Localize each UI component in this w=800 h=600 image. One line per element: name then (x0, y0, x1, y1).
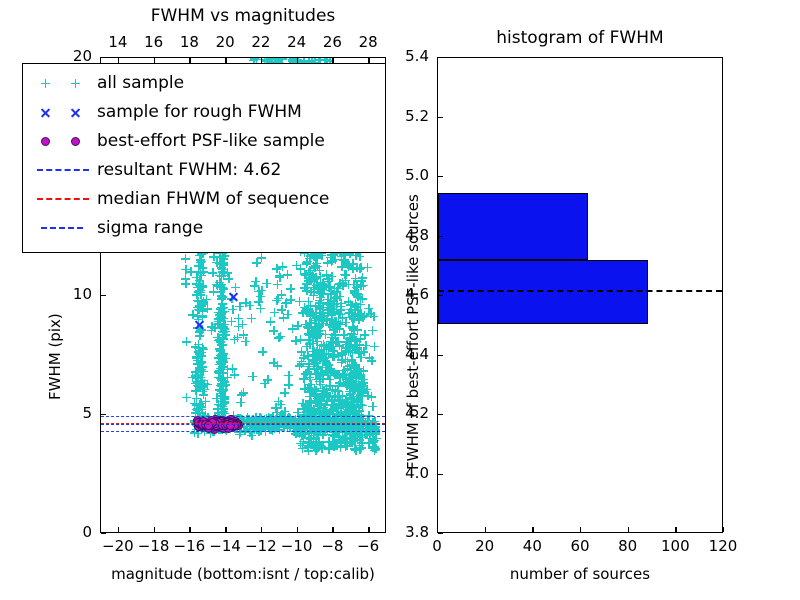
scatter-point-all (303, 351, 312, 360)
scatter-point-all (315, 309, 324, 318)
scatter-point-all (316, 380, 325, 389)
scatter-point-all (346, 300, 355, 309)
scatter-point-all (354, 348, 363, 357)
scatter-point-all (337, 262, 346, 271)
scatter-point-all (339, 330, 348, 339)
scatter-point-all (352, 283, 361, 292)
scatter-point-all (355, 425, 364, 434)
scatter-point-all (320, 353, 329, 362)
scatter-point-all (194, 370, 203, 379)
scatter-point-all (323, 300, 332, 309)
scatter-point-all (326, 337, 335, 346)
scatter-point-all (199, 299, 208, 308)
scatter-point-all (336, 302, 345, 311)
scatter-point-all (348, 376, 357, 385)
scatter-point-all (342, 411, 351, 420)
scatter-point-all (349, 428, 358, 437)
scatter-point-all (317, 341, 326, 350)
scatter-xtick (368, 527, 369, 532)
scatter-point-all (217, 280, 226, 289)
scatter-point-all (192, 354, 201, 363)
scatter-point-all (337, 350, 346, 359)
scatter-point-all (348, 403, 357, 412)
scatter-point-all (308, 339, 317, 348)
scatter-point-all (348, 333, 357, 342)
scatter-point-all (355, 381, 364, 390)
scatter-point-all (319, 317, 328, 326)
scatter-xticklabel: −14 (209, 537, 241, 555)
scatter-point-all (312, 252, 321, 261)
scatter-point-all (358, 421, 367, 430)
scatter-point-all (181, 274, 190, 283)
scatter-point-all (324, 437, 333, 446)
scatter-point-all (307, 404, 316, 413)
scatter-point-all (292, 261, 301, 270)
scatter-point-all (314, 439, 323, 448)
scatter-point-all (195, 382, 204, 391)
scatter-point-all (312, 431, 321, 440)
scatter-point-all (309, 347, 318, 356)
scatter-x-axis-label: magnitude (bottom:isnt / top:calib) (100, 565, 386, 583)
scatter-point-all (284, 371, 293, 380)
scatter-point-all (223, 365, 232, 374)
histogram-xticklabel: 80 (618, 537, 637, 555)
scatter-point-all (328, 437, 337, 446)
scatter-yticklabel: 5 (82, 404, 92, 422)
scatter-point-all (215, 366, 224, 375)
scatter-point-all (192, 400, 201, 409)
legend-marker-glyph (41, 137, 50, 146)
scatter-point-all (193, 359, 202, 368)
scatter-point-all (219, 322, 228, 331)
scatter-point-all (233, 333, 242, 342)
scatter-point-all (345, 340, 354, 349)
scatter-point-all (369, 436, 378, 445)
scatter-point-all (202, 295, 211, 304)
histogram-ytick (438, 533, 443, 534)
scatter-point-all (305, 335, 314, 344)
scatter-point-all (341, 270, 350, 279)
scatter-point-all (370, 436, 379, 445)
scatter-point-all (348, 384, 357, 393)
histogram-yticklabel: 5.0 (405, 166, 429, 184)
scatter-point-all (193, 381, 202, 390)
scatter-point-all (306, 435, 315, 444)
scatter-point-all (257, 253, 266, 262)
scatter-point-all (309, 434, 318, 443)
scatter-point-all (318, 363, 327, 372)
scatter-point-all (309, 425, 318, 434)
scatter-point-all (216, 317, 225, 326)
scatter-point-all (363, 391, 372, 400)
scatter-point-all (352, 400, 361, 409)
scatter-point-all (349, 368, 358, 377)
scatter-point-all (194, 374, 203, 383)
scatter-point-all (298, 399, 307, 408)
scatter-point-all (359, 381, 368, 390)
scatter-point-all (345, 406, 354, 415)
scatter-point-all (329, 325, 338, 334)
scatter-point-all (350, 286, 359, 295)
scatter-point-all (357, 281, 366, 290)
scatter-point-all (322, 391, 331, 400)
scatter-point-all (334, 309, 343, 318)
scatter-point-all (330, 370, 339, 379)
scatter-point-all (348, 410, 357, 419)
scatter-point-all (353, 364, 362, 373)
scatter-point-all (338, 372, 347, 381)
scatter-point-all (307, 274, 316, 283)
scatter-point-all (271, 403, 280, 412)
scatter-point-all (367, 356, 376, 365)
legend-marker-glyph (41, 79, 50, 88)
scatter-point-all (329, 346, 338, 355)
scatter-point-all (215, 259, 224, 268)
scatter-point-all (192, 394, 201, 403)
scatter-point-all (241, 298, 250, 307)
scatter-point-all (328, 302, 337, 311)
scatter-point-all (371, 444, 380, 453)
scatter-legend: all samplesample for rough FWHMbest-effo… (22, 63, 386, 253)
scatter-point-all (326, 304, 335, 313)
scatter-point-all (296, 439, 305, 448)
scatter-point-all (218, 308, 227, 317)
scatter-point-all (315, 288, 324, 297)
scatter-point-all (214, 400, 223, 409)
scatter-point-all (310, 285, 319, 294)
histogram-xtick (628, 527, 629, 532)
scatter-point-all (219, 323, 228, 332)
scatter-point-all (316, 380, 325, 389)
scatter-point-all (328, 400, 337, 409)
scatter-point-all (316, 326, 325, 335)
scatter-point-all (329, 296, 338, 305)
histogram-bar[interactable] (438, 193, 588, 260)
scatter-point-all (331, 428, 340, 437)
scatter-point-all (325, 421, 334, 430)
scatter-point-all (346, 348, 355, 357)
scatter-point-all (352, 396, 361, 405)
scatter-xtick (297, 527, 298, 532)
scatter-point-all (329, 442, 338, 451)
scatter-point-all (315, 374, 324, 383)
scatter-point-all (302, 320, 311, 329)
scatter-point-all (346, 398, 355, 407)
scatter-point-all (353, 344, 362, 353)
scatter-point-all (348, 323, 357, 332)
scatter-point-all (193, 406, 202, 415)
scatter-point-all (326, 253, 335, 262)
scatter-point-all (334, 352, 343, 361)
scatter-point-all (354, 315, 363, 324)
histogram-bar[interactable] (438, 260, 648, 324)
scatter-point-all (212, 394, 221, 403)
scatter-point-all (216, 381, 225, 390)
scatter-point-all (349, 314, 358, 323)
scatter-point-all (322, 341, 331, 350)
scatter-point-all (334, 319, 343, 328)
scatter-point-all (336, 310, 345, 319)
scatter-point-all (368, 443, 377, 452)
scatter-point-all (199, 367, 208, 376)
scatter-point-all (269, 358, 278, 367)
scatter-point-all (355, 371, 364, 380)
scatter-point-all (214, 373, 223, 382)
scatter-point-all (302, 400, 311, 409)
scatter-point-all (197, 380, 206, 389)
scatter-point-all (313, 354, 322, 363)
scatter-point-all (350, 306, 359, 315)
scatter-point-all (348, 322, 357, 331)
scatter-point-all (302, 407, 311, 416)
scatter-point-all (195, 346, 204, 355)
scatter-point-all (344, 297, 353, 306)
scatter-point-all (344, 417, 353, 426)
scatter-point-all (193, 296, 202, 305)
scatter-point-all (308, 310, 317, 319)
scatter-point-all (214, 404, 223, 413)
scatter-point-all (353, 305, 362, 314)
scatter-reference-line (101, 431, 385, 432)
scatter-point-all (258, 347, 267, 356)
scatter-point-all (215, 310, 224, 319)
scatter-point-all (196, 258, 205, 267)
scatter-point-all (310, 364, 319, 373)
scatter-point-all (299, 374, 308, 383)
scatter-point-all (268, 417, 277, 426)
scatter-point-all (318, 284, 327, 293)
scatter-point-all (219, 268, 228, 277)
scatter-point-all (309, 359, 318, 368)
legend-line-glyph (37, 169, 89, 171)
scatter-point-all (351, 299, 360, 308)
scatter-point-all (181, 254, 190, 263)
scatter-point-all (274, 333, 283, 342)
scatter-point-all (353, 325, 362, 334)
scatter-point-all (346, 428, 355, 437)
scatter-point-all (223, 373, 232, 382)
scatter-point-all (351, 367, 360, 376)
histogram-plot-area[interactable] (437, 57, 723, 533)
scatter-point-all (337, 399, 346, 408)
scatter-xtick (189, 527, 190, 532)
scatter-point-all (221, 330, 230, 339)
scatter-point-all (370, 442, 379, 451)
legend-marker-glyph (71, 79, 80, 88)
scatter-point-all (306, 438, 315, 447)
scatter-point-all (308, 339, 317, 348)
scatter-point-all (194, 372, 203, 381)
scatter-point-all (327, 395, 336, 404)
scatter-point-all (368, 428, 377, 437)
scatter-point-all (330, 431, 339, 440)
legend-line-glyph (37, 198, 89, 200)
scatter-point-all (311, 437, 320, 446)
scatter-point-all (331, 255, 340, 264)
scatter-point-all (192, 290, 201, 299)
scatter-point-all (196, 288, 205, 297)
scatter-point-all (334, 402, 343, 411)
scatter-point-all (340, 428, 349, 437)
scatter-point-all (217, 303, 226, 312)
legend-item: sample for rough FWHM (29, 97, 379, 126)
scatter-point-all (347, 313, 356, 322)
scatter-point-all (329, 368, 338, 377)
scatter-point-all (344, 259, 353, 268)
scatter-point-all (196, 281, 205, 290)
scatter-point-all (315, 377, 324, 386)
scatter-point-all (346, 401, 355, 410)
scatter-point-all (353, 410, 362, 419)
scatter-point-all (220, 377, 229, 386)
scatter-point-all (301, 401, 310, 410)
scatter-point-all (214, 336, 223, 345)
scatter-point-all (330, 299, 339, 308)
scatter-point-all (357, 438, 366, 447)
scatter-point-all (348, 346, 357, 355)
scatter-point-all (360, 330, 369, 339)
scatter-point-all (310, 389, 319, 398)
scatter-point-all (188, 373, 197, 382)
scatter-point-all (234, 314, 243, 323)
scatter-point-all (239, 330, 248, 339)
scatter-point-all (311, 397, 320, 406)
scatter-point-all (254, 425, 263, 434)
scatter-point-all (341, 442, 350, 451)
scatter-point-all (329, 440, 338, 449)
scatter-point-all (328, 352, 337, 361)
scatter-point-all (192, 374, 201, 383)
scatter-point-all (350, 288, 359, 297)
scatter-point-all (368, 326, 377, 335)
scatter-point-all (216, 373, 225, 382)
scatter-point-all (218, 369, 227, 378)
scatter-point-all (193, 303, 202, 312)
scatter-point-all (196, 373, 205, 382)
scatter-point-all (349, 402, 358, 411)
scatter-point-all (353, 385, 362, 394)
scatter-point-all (324, 305, 333, 314)
scatter-point-all (368, 425, 377, 434)
scatter-point-all (325, 282, 334, 291)
scatter-point-all (214, 353, 223, 362)
scatter-point-all (303, 384, 312, 393)
scatter-point-all (345, 373, 354, 382)
scatter-point-all (351, 336, 360, 345)
histogram-y-axis-label: FWHM of best-effort PSF-like sources (404, 194, 422, 470)
scatter-point-all (355, 309, 364, 318)
scatter-point-all (218, 402, 227, 411)
scatter-point-all (318, 303, 327, 312)
scatter-point-all (324, 368, 333, 377)
scatter-point-all (299, 353, 308, 362)
scatter-point-all (312, 334, 321, 343)
scatter-point-all (329, 439, 338, 448)
scatter-point-all (196, 255, 205, 264)
scatter-point-all (241, 337, 250, 346)
scatter-point-all (286, 284, 295, 293)
scatter-ytick (101, 57, 106, 58)
scatter-point-all (326, 410, 335, 419)
scatter-point-all (315, 437, 324, 446)
scatter-point-all (217, 263, 226, 272)
scatter-xtick (225, 527, 226, 532)
scatter-point-all (218, 387, 227, 396)
scatter-point-all (350, 444, 359, 453)
legend-marker-dashed-line-icon (29, 184, 97, 213)
scatter-point-all (349, 428, 358, 437)
scatter-xticklabel: −18 (138, 537, 170, 555)
scatter-point-all (342, 343, 351, 352)
scatter-point-all (181, 279, 190, 288)
scatter-point-all (305, 340, 314, 349)
histogram-xticklabel: 60 (570, 537, 589, 555)
histogram-xticklabel: 40 (523, 537, 542, 555)
scatter-point-all (355, 445, 364, 454)
scatter-point-all (316, 399, 325, 408)
scatter-point-all (272, 296, 281, 305)
scatter-point-all (255, 413, 264, 422)
scatter-point-all (194, 267, 203, 276)
scatter-point-all (182, 393, 191, 402)
scatter-point-all (326, 321, 335, 330)
scatter-point-all (370, 443, 379, 452)
scatter-point-all (329, 404, 338, 413)
scatter-point-all (299, 437, 308, 446)
scatter-point-all (356, 433, 365, 442)
scatter-point-all (345, 410, 354, 419)
scatter-point-all (344, 280, 353, 289)
scatter-point-all (192, 405, 201, 414)
scatter-point-all (355, 264, 364, 273)
scatter-point-all (363, 263, 372, 272)
scatter-point-all (347, 421, 356, 430)
scatter-point-all (315, 355, 324, 364)
histogram-xticklabel: 120 (709, 537, 738, 555)
scatter-point-all (315, 296, 324, 305)
scatter-point-all (328, 350, 337, 359)
scatter-point-all (285, 414, 294, 423)
scatter-point-all (300, 303, 309, 312)
scatter-point-all (357, 428, 366, 437)
scatter-point-all (245, 301, 254, 310)
scatter-point-all (274, 294, 283, 303)
scatter-point-all (345, 391, 354, 400)
scatter-point-all (342, 337, 351, 346)
scatter-point-all (349, 360, 358, 369)
scatter-point-all (313, 370, 322, 379)
scatter-point-all (308, 270, 317, 279)
histogram-reference-line (438, 290, 722, 292)
scatter-point-all (312, 425, 321, 434)
scatter-point-all (212, 280, 221, 289)
scatter-point-all (306, 404, 315, 413)
scatter-point-all (221, 354, 230, 363)
scatter-point-all (194, 261, 203, 270)
scatter-point-all (352, 397, 361, 406)
scatter-point-all (312, 428, 321, 437)
scatter-point-all (318, 374, 327, 383)
scatter-point-all (356, 370, 365, 379)
scatter-point-all (310, 355, 319, 364)
scatter-point-all (216, 345, 225, 354)
scatter-point-all (305, 414, 314, 423)
scatter-point-all (332, 324, 341, 333)
scatter-top-xticklabel: 18 (180, 33, 199, 51)
scatter-point-all (273, 361, 282, 370)
scatter-point-all (309, 291, 318, 300)
scatter-point-all (310, 274, 319, 283)
